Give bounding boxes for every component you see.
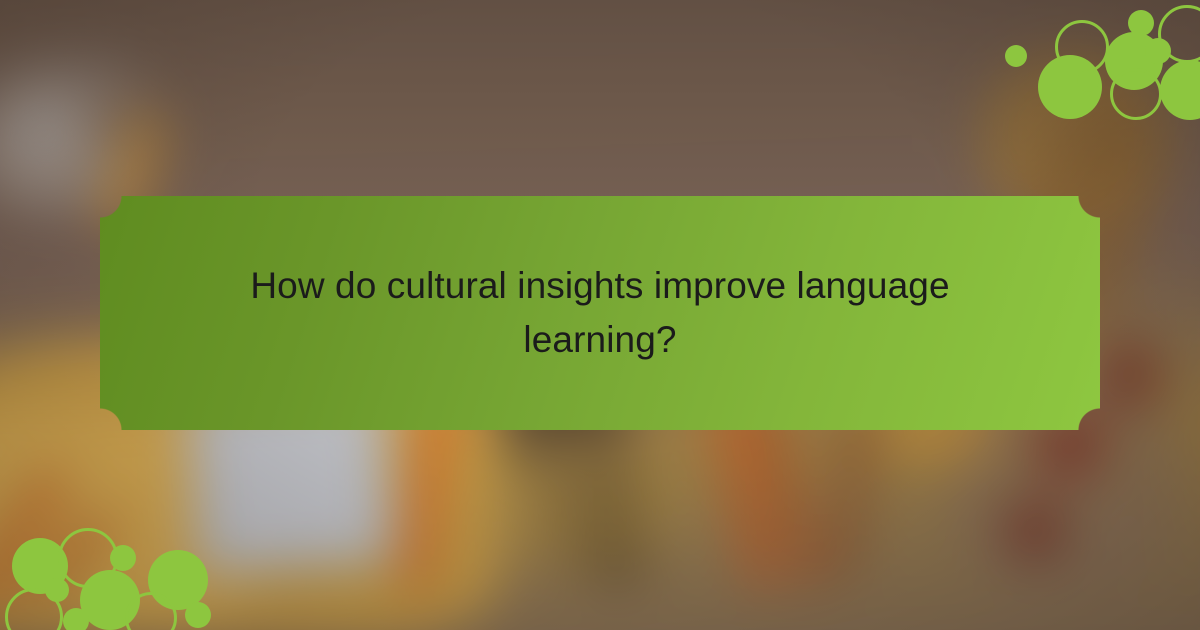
decorative-dots-top-right [980, 0, 1200, 110]
question-text: How do cultural insights improve languag… [190, 259, 1010, 366]
question-card: How do cultural insights improve languag… [100, 196, 1100, 430]
decorative-dot [185, 602, 211, 628]
decorative-dot [1005, 45, 1027, 67]
decorative-dot [1110, 68, 1162, 120]
decorative-dot [63, 608, 89, 630]
decorative-dot [1145, 38, 1171, 64]
decorative-dot [1077, 70, 1099, 92]
decorative-dot [110, 545, 136, 571]
decorative-dots-bottom-left [0, 520, 220, 630]
page-canvas: How do cultural insights improve languag… [0, 0, 1200, 630]
